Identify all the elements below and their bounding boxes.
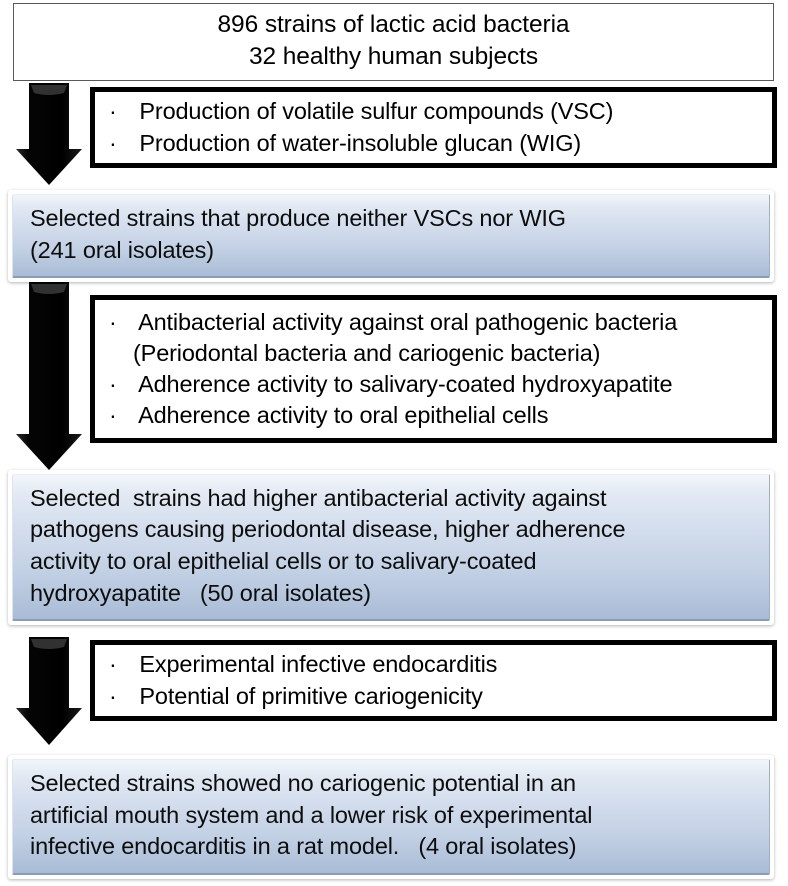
result-line: (241 oral isolates) [30,235,769,267]
criteria-box-1: · Production of volatile sulfur compound… [90,87,777,168]
criteria-item-continuation: · (Periodontal bacteria and cariogenic b… [109,338,772,369]
header-box: 896 strains of lactic acid bacteria 32 h… [13,3,774,81]
criteria-box-3: · Experimental infective endocarditis · … [90,640,777,721]
criteria-item: · Antibacterial activity against oral pa… [109,307,772,338]
bullet-icon: · [109,400,133,431]
down-arrow-2 [8,282,90,472]
flowchart-diagram: 896 strains of lactic acid bacteria 32 h… [0,0,788,886]
criteria-item-label: Potential of primitive cariogenicity [133,681,483,712]
result-line: Selected strains had higher antibacteria… [30,483,769,515]
down-arrow-3 [8,637,90,747]
criteria-item-label: (Periodontal bacteria and cariogenic bac… [133,338,600,369]
criteria-item: · Production of volatile sulfur compound… [109,96,772,127]
result-line: artificial mouth system and a lower risk… [30,800,769,832]
result-box-3: Selected strains showed no cariogenic po… [8,755,774,879]
bullet-icon: · [109,307,133,338]
result-box-3-body: Selected strains showed no cariogenic po… [12,759,770,875]
criteria-item: · Experimental infective endocarditis [109,649,772,680]
result-line: pathogens causing periodontal disease, h… [30,514,769,546]
criteria-item-label: Adherence activity to salivary-coated hy… [133,369,672,400]
criteria-item-label: Adherence activity to oral epithelial ce… [133,400,548,431]
criteria-item: · Adherence activity to salivary-coated … [109,369,772,400]
down-arrow-1 [8,83,90,187]
criteria-box-2: · Antibacterial activity against oral pa… [90,295,777,443]
criteria-item-label: Experimental infective endocarditis [133,649,497,680]
result-line: Selected strains that produce neither VS… [30,203,769,235]
criteria-item: · Adherence activity to oral epithelial … [109,400,772,431]
down-arrow-icon [8,282,90,472]
result-line: activity to oral epithelial cells or to … [30,546,769,578]
result-line: hydroxyapatite (50 oral isolates) [30,578,769,610]
criteria-item: · Production of water-insoluble glucan (… [109,128,772,159]
criteria-item-label: Production of water-insoluble glucan (WI… [133,128,581,159]
down-arrow-icon [8,637,90,747]
header-line: 896 strains of lactic acid bacteria [218,9,570,41]
criteria-item-label: Antibacterial activity against oral path… [133,307,677,338]
criteria-item-label: Production of volatile sulfur compounds … [133,96,613,127]
header-line: 32 healthy human subjects [249,41,538,73]
result-line: infective endocarditis in a rat model. (… [30,831,769,863]
result-line: Selected strains showed no cariogenic po… [30,768,769,800]
bullet-icon: · [109,681,133,712]
bullet-icon: · [109,649,133,680]
result-box-1: Selected strains that produce neither VS… [8,190,774,282]
criteria-item: · Potential of primitive cariogenicity [109,681,772,712]
result-box-1-body: Selected strains that produce neither VS… [12,194,770,278]
result-box-2: Selected strains had higher antibacteria… [8,470,774,625]
bullet-icon: · [109,96,133,127]
bullet-icon: · [109,369,133,400]
down-arrow-icon [8,83,90,187]
bullet-icon: · [109,128,133,159]
result-box-2-body: Selected strains had higher antibacteria… [12,474,770,621]
